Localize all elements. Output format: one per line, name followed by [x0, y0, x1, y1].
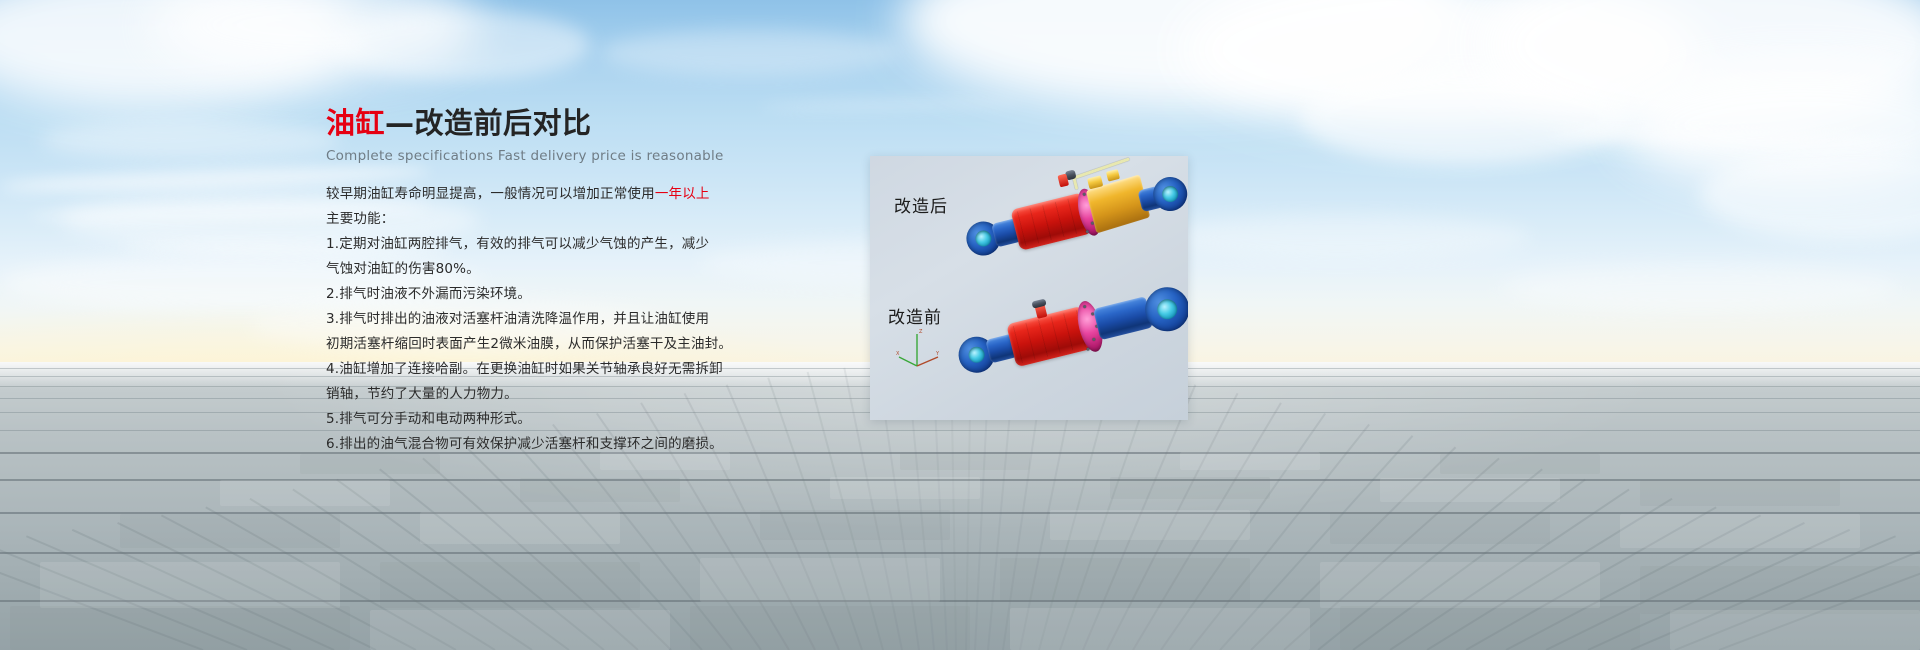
vent-tube: [1074, 157, 1130, 179]
body-line-text: 主要功能：: [326, 211, 395, 227]
body-line-text: 销轴，节约了大量的人力物力。: [326, 386, 518, 402]
pavement-tile: [370, 610, 670, 650]
label-after-modification: 改造后: [894, 192, 948, 217]
pavement-tile: [1110, 477, 1270, 499]
body-line: 气蚀对油缸的伤害80%。: [326, 257, 886, 282]
body-line: 3.排气时排出的油液对活塞杆油清洗降温作用，并且让油缸使用: [326, 307, 886, 332]
pavement-tile: [1010, 608, 1310, 650]
cloud-shape: [1500, 265, 1900, 311]
cylinder-eye-bore: [967, 345, 986, 364]
product-image-panel: 改造后 改造前 Z X Y: [870, 156, 1188, 420]
pavement-tile: [900, 452, 1030, 470]
body-line-text: 5.排气可分手动和电动两种形式。: [326, 411, 531, 427]
banner-body-copy: 较早期油缸寿命明显提高，一般情况可以增加正常使用一年以上主要功能：1.定期对油缸…: [326, 182, 886, 457]
pavement-tile: [10, 606, 350, 650]
cloud-shape: [40, 120, 340, 160]
pavement-tile: [420, 512, 620, 544]
pavement-tile: [1330, 512, 1550, 544]
body-line: 初期活塞杆缩回时表面产生2微米油膜，从而保护活塞干及主油封。: [326, 332, 886, 357]
body-line: 较早期油缸寿命明显提高，一般情况可以增加正常使用一年以上: [326, 182, 886, 207]
cylinder-eye-bore: [1155, 297, 1179, 321]
cylinder-barrel-ribs: [1013, 310, 1086, 363]
pavement-tile: [520, 478, 680, 502]
label-before-modification: 改造前: [888, 303, 942, 328]
page-subtitle: Complete specifications Fast delivery pr…: [326, 148, 886, 164]
page-title-rest: —改造前后对比: [385, 106, 592, 140]
flange-bolt: [1086, 347, 1090, 351]
body-line: 6.排出的油气混合物可有效保护减少活塞杆和支撑环之间的磨损。: [326, 432, 886, 457]
pavement-tile: [120, 514, 340, 548]
pavement-tile: [690, 606, 970, 650]
body-line-text: 1.定期对油缸两腔排气，有效的排气可以减少气蚀的产生，减少: [326, 236, 709, 252]
cylinder-barrel-ribs: [1017, 197, 1086, 247]
body-line: 4.油缸增加了连接哈副。在更换油缸时如果关节轴承良好无需拆卸: [326, 357, 886, 382]
body-line-text: 6.排出的油气混合物可有效保护减少活塞杆和支撑环之间的磨损。: [326, 436, 723, 452]
pavement-tile: [1670, 610, 1920, 650]
body-line-text: 初期活塞杆缩回时表面产生2微米油膜，从而保护活塞干及主油封。: [326, 336, 732, 352]
pavement-tile: [1440, 454, 1600, 474]
body-line-text: 较早期油缸寿命明显提高，一般情况可以增加正常使用: [326, 186, 655, 202]
pavement-tile: [1640, 566, 1920, 614]
cylinder-eye-bore: [974, 229, 993, 248]
cloud-shape: [1300, 70, 1630, 165]
axis-triad-icon: Z X Y: [896, 326, 942, 370]
page-title-highlight: 油缸: [326, 106, 385, 140]
body-line: 5.排气可分手动和电动两种形式。: [326, 407, 886, 432]
banner-stage: 油缸—改造前后对比 Complete specifications Fast d…: [0, 0, 1920, 650]
pavement-tile: [1340, 606, 1640, 650]
cloud-shape: [330, 10, 590, 80]
body-line: 2.排气时油液不外漏而污染环境。: [326, 282, 886, 307]
pavement-tile: [1000, 558, 1250, 602]
body-line: 销轴，节约了大量的人力物力。: [326, 382, 886, 407]
cloud-shape: [1150, 215, 1530, 259]
pavement-tile: [380, 562, 640, 608]
svg-text:Z: Z: [919, 329, 923, 335]
body-line-accent: 一年以上: [655, 186, 710, 202]
pavement-tile: [1620, 514, 1860, 548]
pavement-tile: [220, 480, 390, 506]
banner-text-block: 油缸—改造前后对比 Complete specifications Fast d…: [326, 105, 886, 457]
pavement-seam-horizontal: [0, 430, 1920, 431]
cloud-shape: [600, 30, 900, 75]
page-title: 油缸—改造前后对比: [326, 105, 886, 141]
body-line-text: 气蚀对油缸的伤害80%。: [326, 261, 480, 277]
pavement-tile: [1180, 452, 1320, 470]
pavement-tile: [1640, 480, 1840, 506]
pavement-tile: [40, 562, 340, 608]
pavement-tile: [1320, 562, 1600, 608]
pavement-tile: [700, 558, 940, 602]
body-line: 主要功能：: [326, 207, 886, 232]
body-line-text: 3.排气时排出的油液对活塞杆油清洗降温作用，并且让油缸使用: [326, 311, 709, 327]
cylinder-gland-blue: [1093, 296, 1153, 340]
svg-text:Y: Y: [935, 351, 940, 357]
pavement-tile: [830, 477, 980, 499]
body-line: 1.定期对油缸两腔排气，有效的排气可以减少气蚀的产生，减少: [326, 232, 886, 257]
pavement-tile: [1380, 478, 1560, 502]
pavement-tile: [760, 510, 950, 540]
svg-text:X: X: [896, 351, 900, 357]
body-line-text: 2.排气时油液不外漏而污染环境。: [326, 286, 531, 302]
pavement-tile: [1050, 510, 1250, 540]
body-line-text: 4.油缸增加了连接哈副。在更换油缸时如果关节轴承良好无需拆卸: [326, 361, 723, 377]
cylinder-eye-bore: [1161, 184, 1180, 203]
